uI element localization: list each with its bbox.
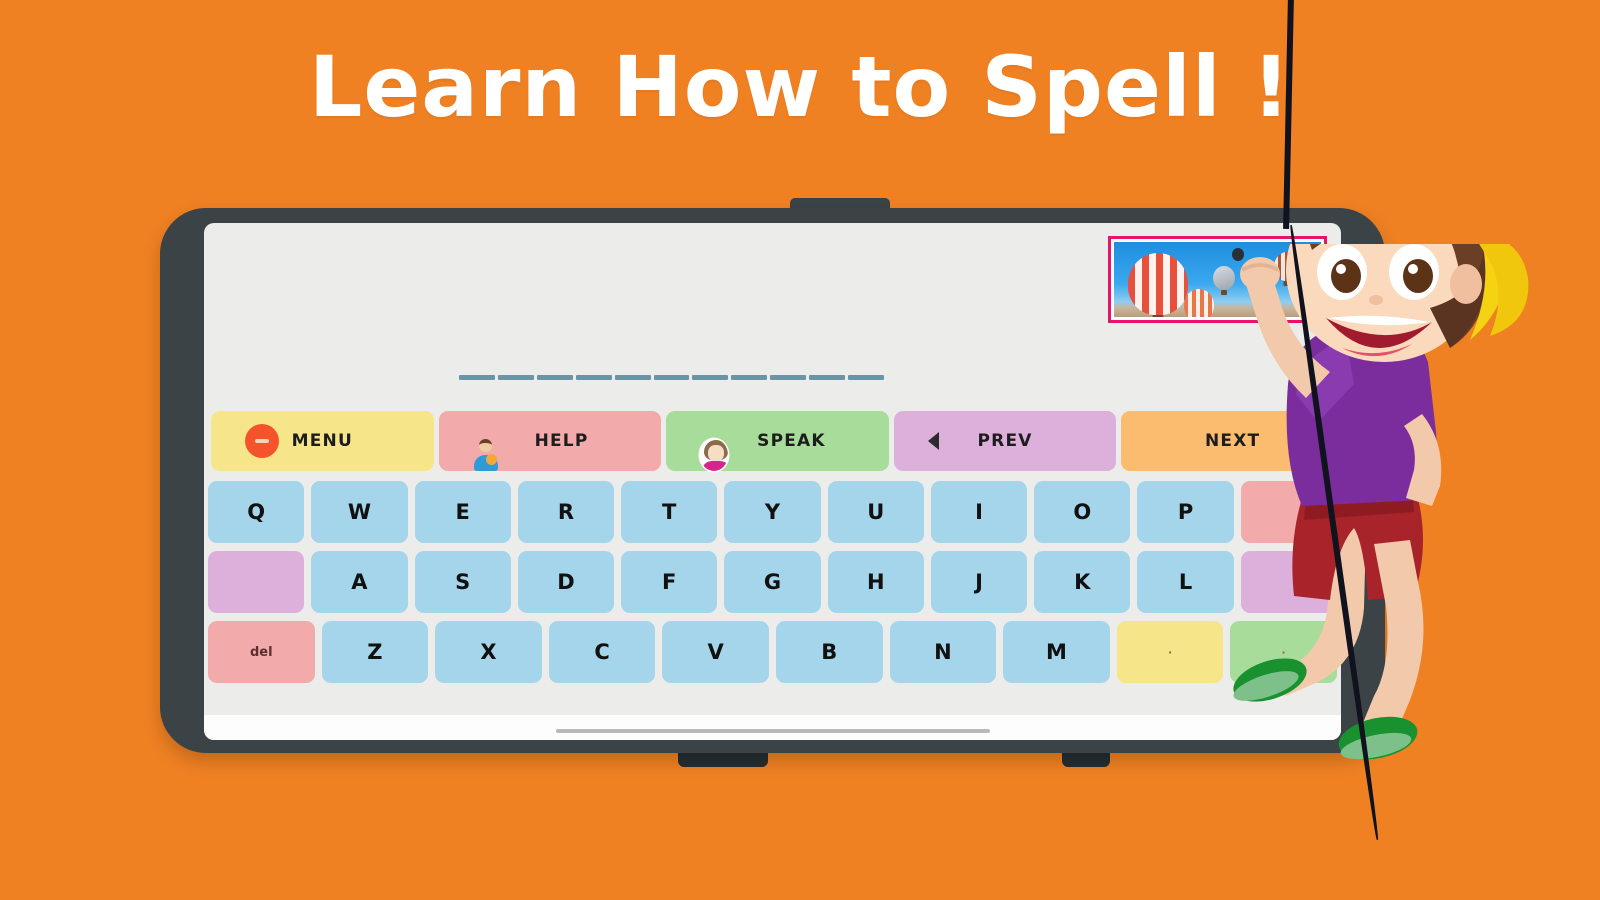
keyboard-row: delZXCVBNM·· xyxy=(208,621,1337,683)
word-blank-dash xyxy=(498,375,534,380)
key-z[interactable]: Z xyxy=(322,621,429,683)
avatar-icon xyxy=(700,439,728,471)
key-c[interactable]: C xyxy=(549,621,656,683)
word-blank-dash xyxy=(809,375,845,380)
word-blank-dash xyxy=(731,375,767,380)
help-button[interactable]: HELP xyxy=(439,411,662,471)
key-del[interactable]: del xyxy=(208,621,315,683)
keyboard-row: QWERTYUIOP xyxy=(208,481,1337,543)
key-r[interactable]: R xyxy=(518,481,614,543)
person-icon xyxy=(473,439,496,471)
keyboard-row: ASDFGHJKL xyxy=(208,551,1337,613)
key-q[interactable]: Q xyxy=(208,481,304,543)
speak-button[interactable]: SPEAK xyxy=(666,411,889,471)
word-blank-dash xyxy=(615,375,651,380)
key-blank-1-0[interactable] xyxy=(208,551,304,613)
key-n[interactable]: N xyxy=(890,621,997,683)
word-blank-dash xyxy=(654,375,690,380)
screen-bottom-strip xyxy=(204,715,1341,740)
key-v[interactable]: V xyxy=(662,621,769,683)
key-y[interactable]: Y xyxy=(724,481,820,543)
menu-button[interactable]: MENU xyxy=(211,411,434,471)
action-toolbar: MENUHELPSPEAKPREVNEXT xyxy=(209,411,1341,474)
home-indicator[interactable] xyxy=(556,729,990,733)
word-blank-dash xyxy=(537,375,573,380)
key-j[interactable]: J xyxy=(931,551,1027,613)
phone-bottom-button-right xyxy=(1062,752,1110,767)
key-k[interactable]: K xyxy=(1034,551,1130,613)
key-t[interactable]: T xyxy=(621,481,717,543)
key-w[interactable]: W xyxy=(311,481,407,543)
key-s[interactable]: S xyxy=(415,551,511,613)
key-f[interactable]: F xyxy=(621,551,717,613)
phone-screen: MENUHELPSPEAKPREVNEXT QWERTYUIOPASDFGHJK… xyxy=(204,223,1341,740)
key-b[interactable]: B xyxy=(776,621,883,683)
on-screen-keyboard: QWERTYUIOPASDFGHJKLdelZXCVBNM·· xyxy=(204,481,1341,691)
key-o[interactable]: O xyxy=(1034,481,1130,543)
key-d[interactable]: D xyxy=(518,551,614,613)
chevron-left-icon xyxy=(928,432,939,450)
key-e[interactable]: E xyxy=(415,481,511,543)
key-h[interactable]: H xyxy=(828,551,924,613)
word-blank-dash xyxy=(848,375,884,380)
app-promo-banner: Learn How to Spell ! MENUHEL xyxy=(0,0,1600,900)
phone-bottom-button-left xyxy=(678,752,768,767)
minus-circle-icon xyxy=(245,424,279,458)
page-title: Learn How to Spell ! xyxy=(0,38,1600,136)
key-m[interactable]: M xyxy=(1003,621,1110,683)
word-blank-dashes xyxy=(459,375,884,380)
word-blank-dash xyxy=(459,375,495,380)
key-a[interactable]: A xyxy=(311,551,407,613)
word-blank-dash xyxy=(576,375,612,380)
key-u[interactable]: U xyxy=(828,481,924,543)
key-g[interactable]: G xyxy=(724,551,820,613)
key-i[interactable]: I xyxy=(931,481,1027,543)
prev-button[interactable]: PREV xyxy=(894,411,1117,471)
word-blank-dash xyxy=(770,375,806,380)
word-blank-dash xyxy=(692,375,728,380)
key-x[interactable]: X xyxy=(435,621,542,683)
